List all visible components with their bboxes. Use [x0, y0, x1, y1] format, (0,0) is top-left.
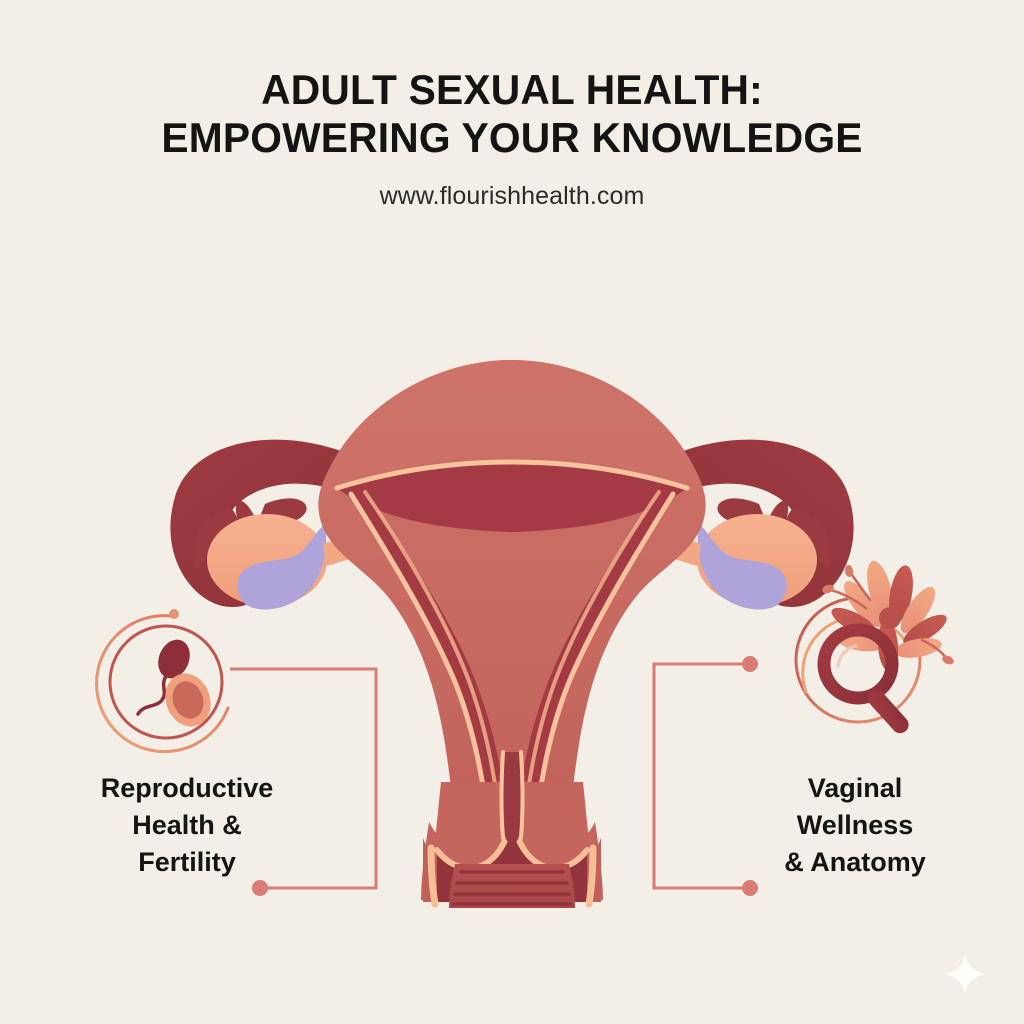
callout-label-vaginal-wellness-anatomy: Vaginal Wellness & Anatomy — [740, 770, 970, 881]
callout-label-reproductive-health-fertility: Reproductive Health & Fertility — [62, 770, 312, 881]
cervix-and-vagina — [421, 752, 603, 908]
inner-ring — [110, 626, 222, 738]
label-line-2: Health & — [62, 807, 312, 844]
title-line-2: EMPOWERING YOUR KNOWLEDGE — [15, 114, 1008, 162]
label-line-1: Reproductive — [62, 770, 312, 807]
header: ADULT SEXUAL HEALTH: EMPOWERING YOUR KNO… — [0, 66, 1024, 211]
label-line-1: Vaginal — [740, 770, 970, 807]
connector-start-dot — [742, 656, 758, 672]
label-line-3: & Anatomy — [740, 844, 970, 881]
page-title: ADULT SEXUAL HEALTH: EMPOWERING YOUR KNO… — [15, 66, 1008, 162]
magnifier-with-flower-icon — [762, 560, 962, 760]
connector-end-dot — [742, 880, 758, 896]
label-line-2: Wellness — [740, 807, 970, 844]
website-url: www.flourishhealth.com — [0, 182, 1024, 211]
sparkle-icon — [943, 952, 987, 996]
title-line-1: ADULT SEXUAL HEALTH: — [15, 66, 1008, 114]
connector-end-dot — [252, 880, 268, 896]
label-line-3: Fertility — [62, 844, 312, 881]
ring-end-dot — [169, 609, 179, 619]
infographic-poster: ADULT SEXUAL HEALTH: EMPOWERING YOUR KNO… — [0, 0, 1024, 1024]
